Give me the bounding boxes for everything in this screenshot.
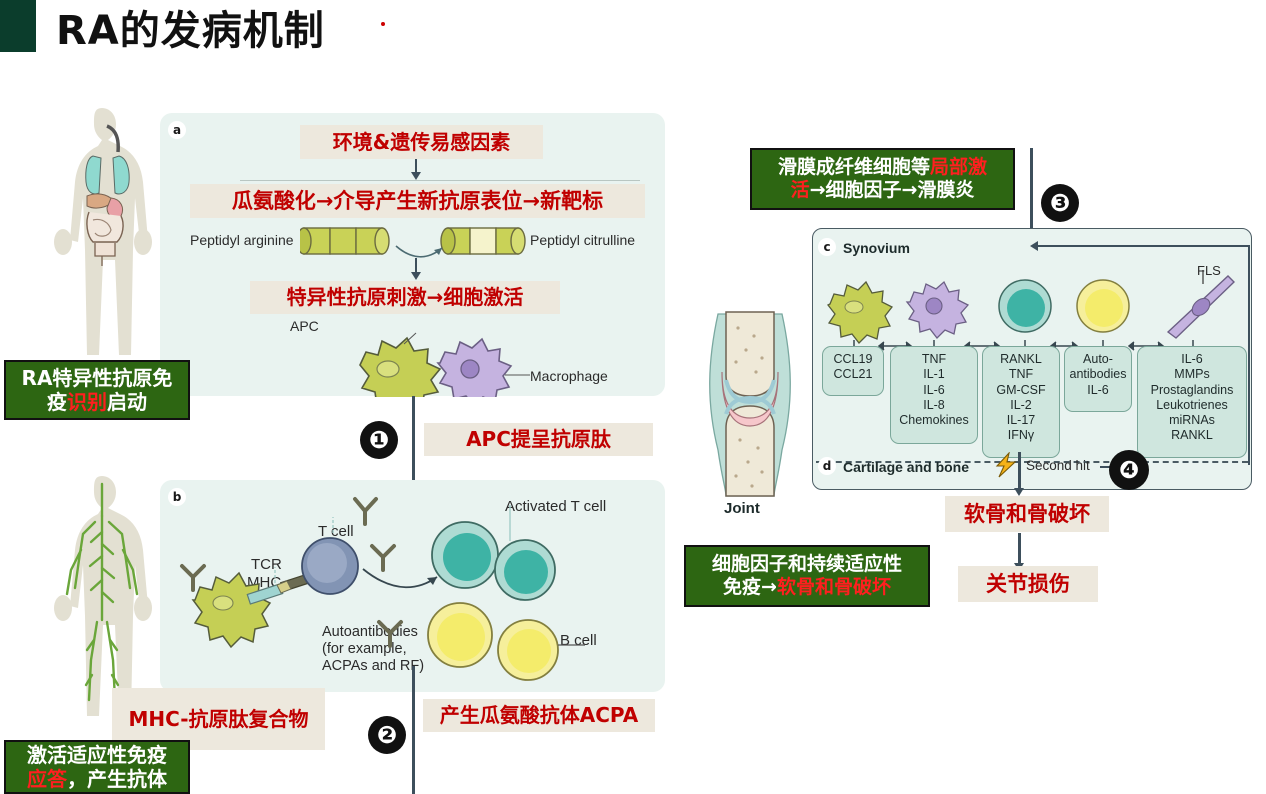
green-box-adaptive-immune-activation: 激活适应性免疫 应答，产生抗体 [4, 740, 190, 794]
step-badge-1: ❶ [360, 421, 398, 459]
cytokine-line: CCL19 [826, 352, 880, 367]
cytokine-line: Auto- [1068, 352, 1128, 367]
cytokine-line: IL-17 [986, 413, 1056, 428]
panel-a-divider [240, 180, 640, 181]
cytokine-line: miRNAs [1141, 413, 1243, 428]
cytokine-box-fls: IL-6 MMPs Prostaglandins Leukotrienes mi… [1137, 346, 1247, 458]
apc-macrophage-cells [320, 325, 550, 397]
step-badge-2: ❷ [368, 716, 406, 754]
cytokine-box-autoantibodies: Auto- antibodies IL-6 [1064, 346, 1132, 412]
feedback-arrow-line [1037, 245, 1249, 247]
cytokine-box-ccl: CCL19 CCL21 [822, 346, 884, 396]
green-box-ra-antigen-recognition: RA特异性抗原免 疫识别启动 [4, 360, 190, 420]
panel-c-letter: c [818, 238, 836, 256]
panel-d-title: Cartilage and bone [843, 459, 969, 475]
label-apc: APC [290, 318, 319, 334]
label-peptidyl-arginine: Peptidyl arginine [190, 232, 294, 248]
title-dot [381, 22, 385, 26]
cytokine-line: IL-8 [894, 398, 974, 413]
arrow-to-cartilage-destruction-line [1018, 452, 1021, 490]
cytokine-line: IFNγ [986, 428, 1056, 443]
panel-a-letter: a [168, 121, 186, 139]
cytokine-line: MMPs [1141, 367, 1243, 382]
label-fls: FLS [1197, 263, 1221, 278]
title-accent-bar [0, 0, 36, 52]
arrow-env-to-citrullination-head [411, 172, 421, 180]
feedback-arrow-head [1030, 241, 1038, 251]
green-box-line1: 细胞因子和持续适应性 [712, 553, 902, 576]
box-citrullination: 瓜氨酸化→介导产生新抗原表位→新靶标 [190, 184, 645, 218]
box-cartilage-bone-destruction: 软骨和骨破坏 [945, 496, 1109, 532]
annotation-acpa: 产生瓜氨酸抗体ACPA [423, 699, 655, 732]
arrow-b-downwards [412, 666, 415, 794]
cytokine-line: IL-2 [986, 398, 1056, 413]
cytokine-line: Prostaglandins [1141, 383, 1243, 398]
green-box-line2: 免疫→软骨和骨破坏 [723, 576, 891, 599]
label-peptidyl-citrulline: Peptidyl citrulline [530, 232, 635, 248]
box-antigen-stimulation: 特异性抗原刺激→细胞激活 [250, 281, 560, 314]
arrow-citrulline-to-stimulation-head [411, 272, 421, 280]
panel-d-letter: d [818, 457, 836, 475]
cytokine-line: RANKL [986, 352, 1056, 367]
step-badge-4: ❹ [1109, 450, 1149, 490]
panel-b-cells-diagram [165, 485, 665, 690]
cytokine-box-rankl: RANKL TNF GM-CSF IL-2 IL-17 IFNγ [982, 346, 1060, 458]
cytokine-line: IL-6 [1068, 383, 1128, 398]
green-box-line1: 激活适应性免疫 [27, 743, 167, 767]
cytokine-line: TNF [894, 352, 974, 367]
cytokine-line: Leukotrienes [1141, 398, 1243, 413]
box-joint-damage: 关节损伤 [958, 566, 1098, 602]
label-second-hit: Second hit [1026, 458, 1090, 473]
human-body-organs-figure [45, 100, 160, 390]
green-box-line1: 滑膜成纤维细胞等局部激 [778, 156, 987, 179]
arrow-to-cartilage-destruction-head [1014, 488, 1024, 496]
label-joint: Joint [724, 500, 760, 517]
cytokine-line: CCL21 [826, 367, 880, 382]
green-box-line1: RA特异性抗原免 [22, 366, 173, 390]
green-box-line2: 应答，产生抗体 [27, 767, 167, 791]
green-box-synovial-fibroblast: 滑膜成纤维细胞等局部激 活→细胞因子→滑膜炎 [750, 148, 1015, 210]
cytokine-box-tnf: TNF IL-1 IL-6 IL-8 Chemokines [890, 346, 978, 444]
green-box-cytokine-cartilage: 细胞因子和持续适应性 免疫→软骨和骨破坏 [684, 545, 930, 607]
box-environment-genetic: 环境&遗传易感因素 [300, 125, 543, 159]
cytokine-line: RANKL [1141, 428, 1243, 443]
cytokine-line: antibodies [1068, 367, 1128, 382]
green-box-line2: 疫识别启动 [47, 390, 147, 414]
feedback-arrow-right-edge [1248, 245, 1250, 465]
panel-c-title: Synovium [843, 240, 910, 256]
cytokine-line: TNF [986, 367, 1056, 382]
cytokine-line: GM-CSF [986, 383, 1056, 398]
cytokine-line: IL-1 [894, 367, 974, 382]
cytokine-line: Chemokines [894, 413, 974, 428]
step-badge-3: ❸ [1041, 184, 1079, 222]
page-title: RA的发病机制 [56, 0, 325, 56]
human-body-lymphatic-figure [45, 470, 160, 725]
cytokine-line: IL-6 [1141, 352, 1243, 367]
joint-illustration [700, 310, 800, 500]
green-box-line2: 活→细胞因子→滑膜炎 [791, 179, 975, 202]
cytokine-line: IL-6 [894, 383, 974, 398]
arrow-to-joint-damage-line [1018, 533, 1021, 565]
annotation-apc-presentation: APC提呈抗原肽 [424, 423, 653, 456]
lightning-bolt-icon [993, 452, 1021, 478]
